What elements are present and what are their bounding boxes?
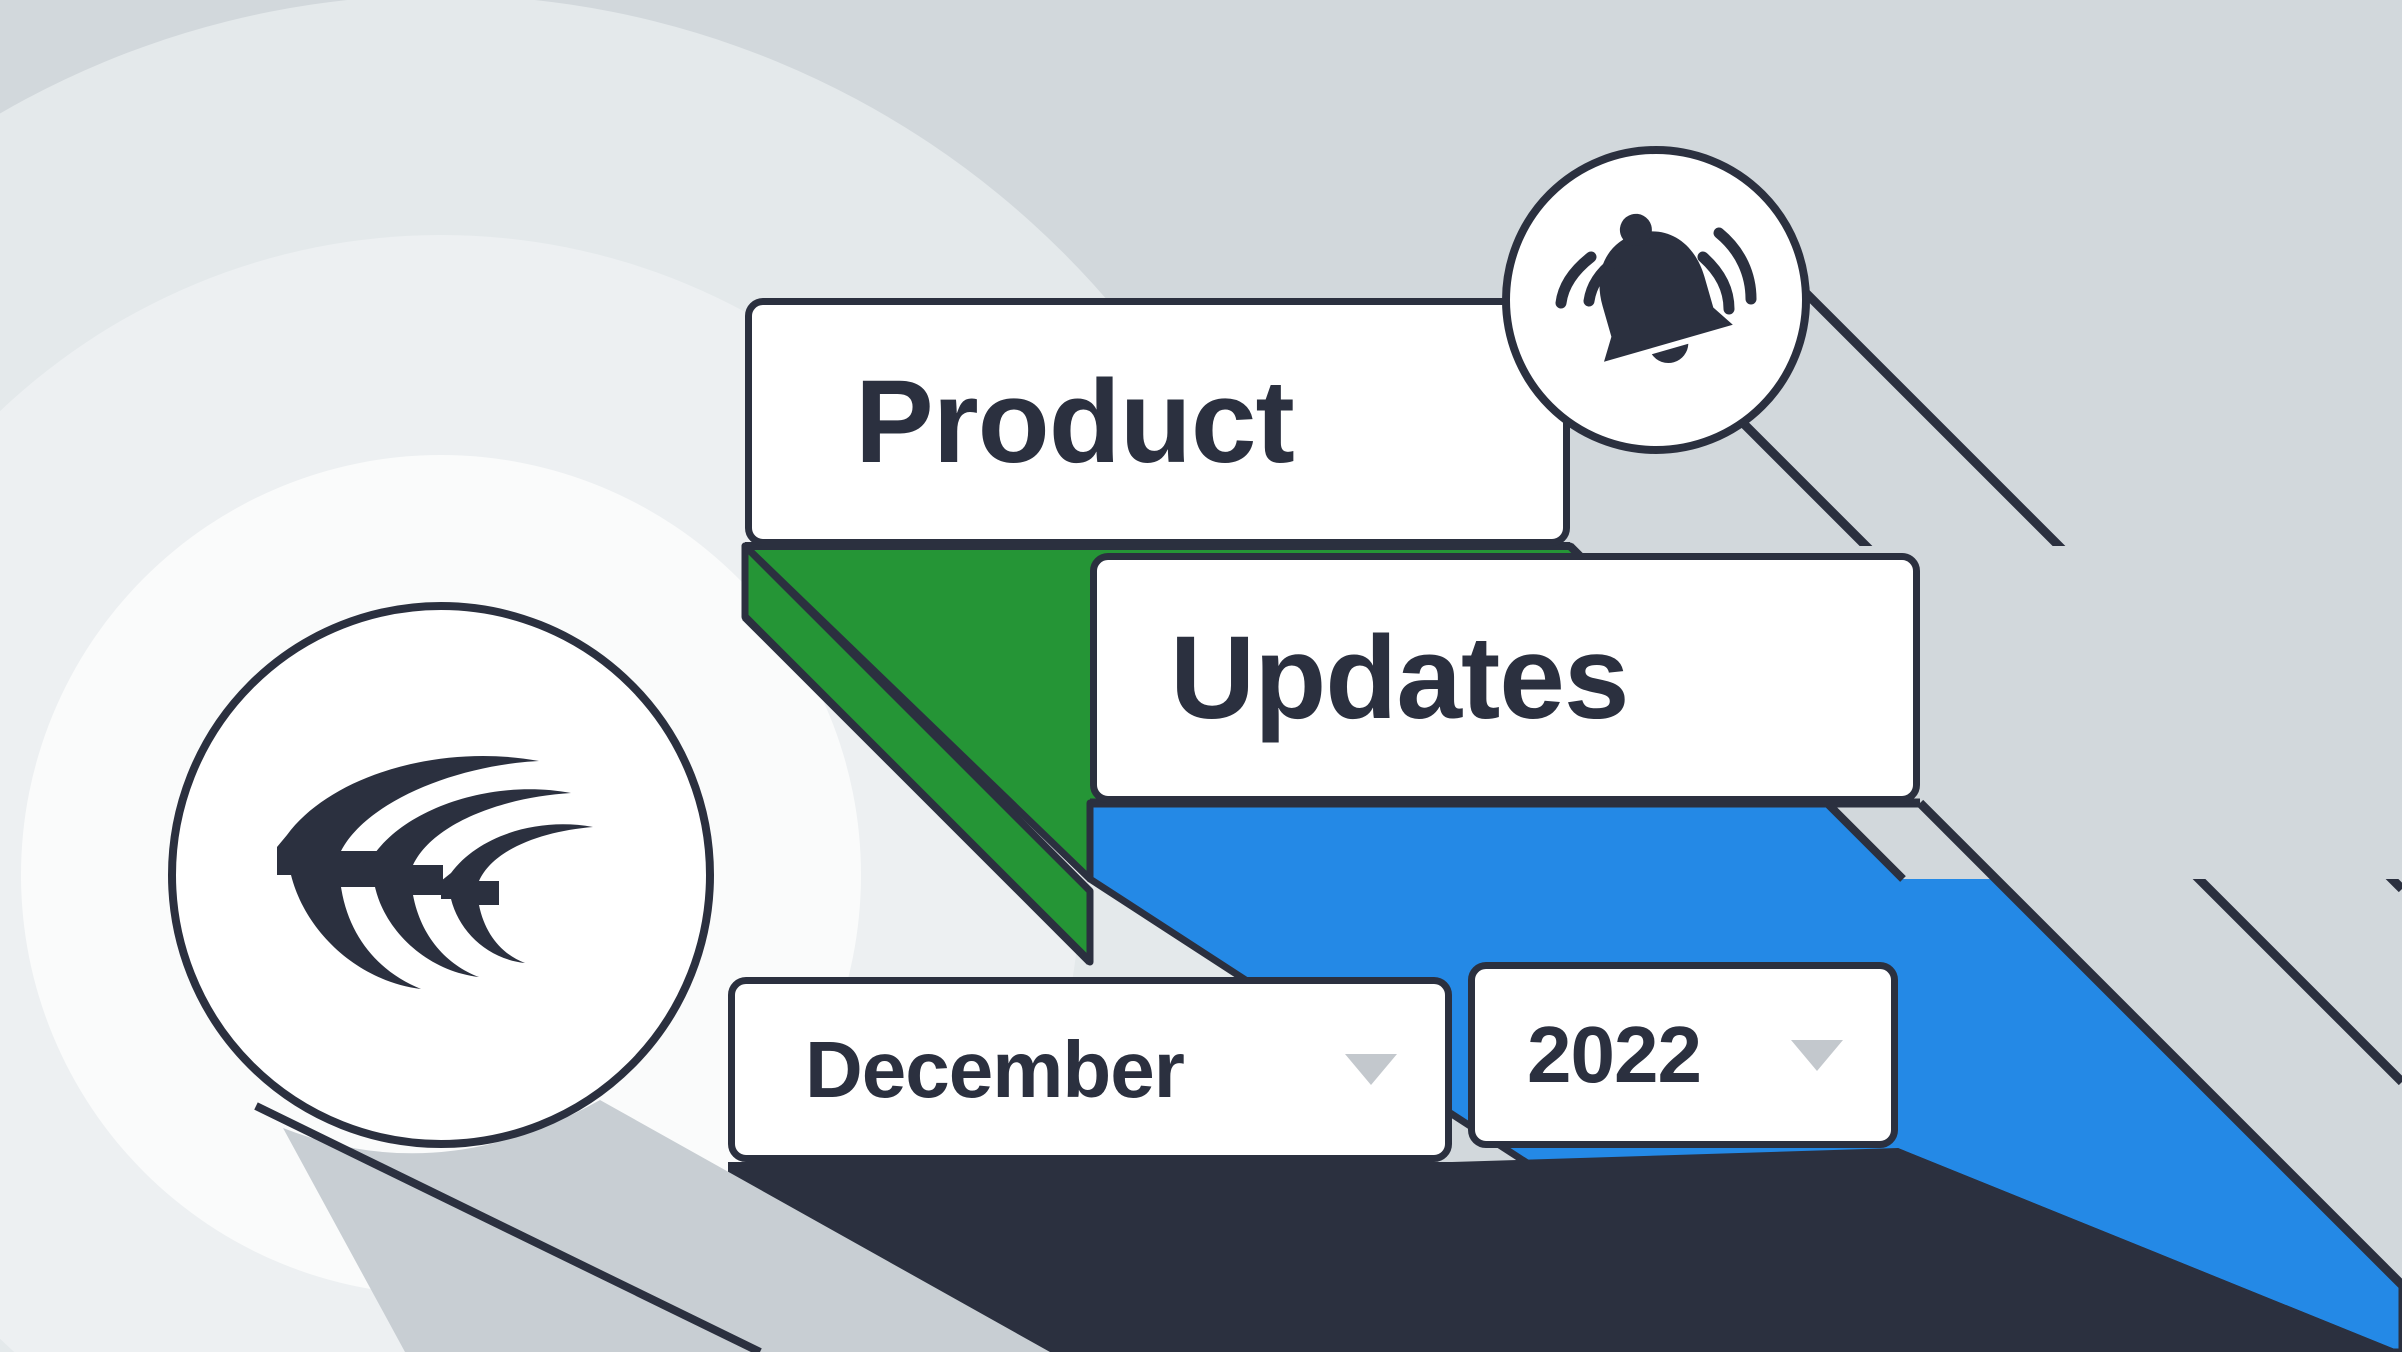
title-card-updates: Updates	[1090, 553, 1920, 803]
product-updates-banner: Product Updates December 2022	[0, 0, 2402, 1352]
month-select[interactable]: December	[728, 977, 1452, 1162]
brand-swoosh-logo-icon	[271, 735, 611, 1015]
brand-logo-badge[interactable]	[168, 602, 714, 1148]
title-line-2: Updates	[1170, 619, 1629, 737]
year-select[interactable]: 2022	[1468, 962, 1898, 1148]
month-value: December	[805, 1030, 1184, 1110]
title-card-product: Product	[745, 298, 1570, 546]
title-line-1: Product	[855, 363, 1294, 481]
year-value: 2022	[1527, 1015, 1701, 1095]
chevron-down-icon[interactable]	[1345, 1054, 1397, 1085]
notification-badge[interactable]	[1502, 146, 1810, 454]
bell-icon	[1551, 195, 1761, 405]
chevron-down-icon[interactable]	[1791, 1040, 1843, 1071]
